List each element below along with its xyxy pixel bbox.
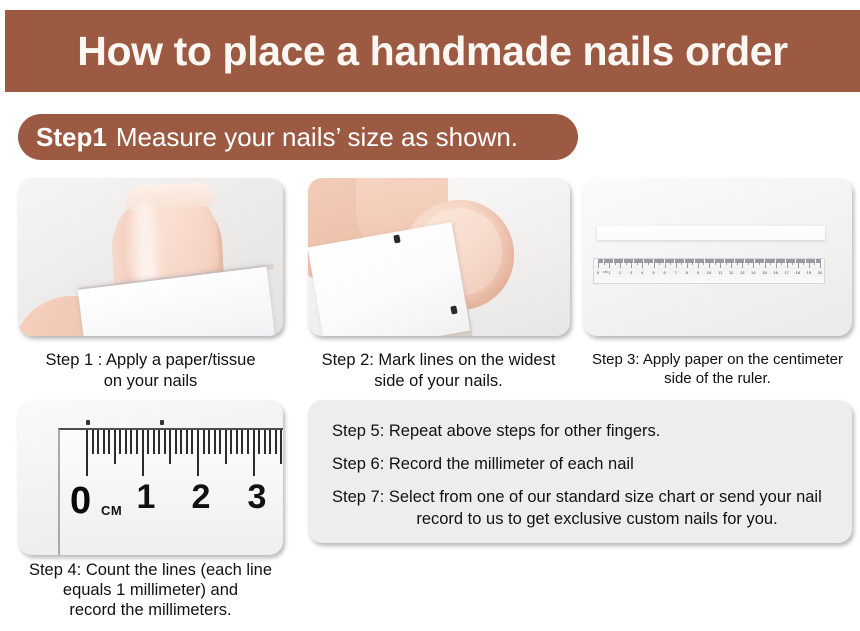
paper-strip bbox=[597, 226, 825, 240]
photo-panel-step4: 0 CM 1 2 3 bbox=[18, 400, 283, 555]
ruler-mm-tick bbox=[208, 430, 210, 454]
ruler-mm-tick bbox=[186, 430, 188, 454]
page-title: How to place a handmade nails order bbox=[77, 28, 788, 75]
ruler-mm-tick bbox=[86, 430, 88, 476]
ruler-number: 17 bbox=[784, 270, 788, 275]
caption-step2: Step 2: Mark lines on the widest side of… bbox=[300, 350, 577, 392]
photo-background bbox=[583, 178, 852, 336]
ruler-20cm: 01234567891011121314151617181920cm bbox=[593, 258, 825, 284]
steps-5-to-7-panel: Step 5: Repeat above steps for other fin… bbox=[308, 400, 852, 543]
ruler-mm-tick bbox=[164, 430, 166, 454]
caption-step1-line1: Step 1 : Apply a paper/tissue bbox=[45, 351, 255, 369]
ruler-mm-tick bbox=[280, 430, 282, 464]
ruler-mm-tick bbox=[203, 430, 205, 454]
step1-label: Step1 bbox=[36, 122, 107, 153]
ruler-mm-tick bbox=[142, 430, 144, 476]
step7-line1: Step 7: Select from one of our standard … bbox=[332, 488, 822, 506]
ruler-zero-label: 0 bbox=[70, 482, 91, 520]
step5-line: Step 5: Repeat above steps for other fin… bbox=[332, 422, 828, 442]
ruler-number: 13 bbox=[740, 270, 744, 275]
ruler-number: 12 bbox=[729, 270, 733, 275]
ruler-number: 6 bbox=[663, 270, 665, 275]
ruler-mm-tick bbox=[214, 430, 216, 454]
ruler-number: 14 bbox=[751, 270, 755, 275]
ruler-mm-tick bbox=[169, 430, 171, 464]
header-band: How to place a handmade nails order bbox=[5, 10, 860, 92]
mark-lines-photo bbox=[308, 178, 570, 336]
ruler-number: 11 bbox=[718, 270, 722, 275]
ruler-mm-tick bbox=[136, 430, 138, 454]
caption-step4-line3: record the millimeters. bbox=[69, 601, 231, 619]
caption-step1-line2: on your nails bbox=[104, 372, 198, 390]
ruler-mm-tick bbox=[191, 430, 193, 454]
ruler-mm-tick bbox=[241, 430, 243, 454]
ruler-number: 2 bbox=[619, 270, 621, 275]
ruler-number: 15 bbox=[762, 270, 766, 275]
ruler-unit-label: cm bbox=[603, 270, 608, 274]
caption-step4-line2: equals 1 millimeter) and bbox=[63, 581, 238, 599]
ruler-number: 4 bbox=[641, 270, 643, 275]
caption-step2-line2: side of your nails. bbox=[374, 372, 502, 390]
ruler-mm-tick bbox=[269, 430, 271, 454]
step6-line: Step 6: Record the millimeter of each na… bbox=[332, 455, 828, 475]
ruler-mm-tick bbox=[103, 430, 105, 454]
ruler-number: 19 bbox=[807, 270, 811, 275]
photo-panel-step3: 01234567891011121314151617181920cm bbox=[583, 178, 852, 336]
ruler-mm-tick bbox=[130, 430, 132, 454]
caption-step3-line2: side of the ruler. bbox=[664, 370, 771, 387]
ruler-mm-tick bbox=[236, 430, 238, 454]
caption-step4: Step 4: Count the lines (each line equal… bbox=[6, 560, 295, 620]
ruler-number: 1 bbox=[608, 270, 610, 275]
ruler-mm-tick bbox=[147, 430, 149, 454]
caption-step2-line1: Step 2: Mark lines on the widest bbox=[322, 351, 556, 369]
ruler-mm-tick bbox=[153, 430, 155, 454]
ruler-number: 9 bbox=[697, 270, 699, 275]
ruler-number-labels: 01234567891011121314151617181920cm bbox=[594, 270, 824, 282]
ruler-mm-tick bbox=[92, 430, 94, 454]
step1-banner: Step1 Measure your nails’ size as shown. bbox=[18, 114, 578, 160]
caption-step3-line1: Step 3: Apply paper on the centimeter bbox=[592, 351, 843, 368]
step7-line: Step 7: Select from one of our standard … bbox=[332, 488, 828, 531]
ruler-mm-tick bbox=[253, 430, 255, 476]
caption-step1: Step 1 : Apply a paper/tissue on your na… bbox=[6, 350, 295, 392]
ruler-mm-tick bbox=[119, 430, 121, 454]
ruler-number: 3 bbox=[630, 270, 632, 275]
ruler-mm-tick bbox=[158, 430, 160, 454]
ruler-digit-3: 3 bbox=[248, 480, 267, 514]
ruler-mm-tick bbox=[175, 430, 177, 454]
ruler-digit-1: 1 bbox=[137, 480, 156, 514]
photo-panel-step2 bbox=[308, 178, 570, 336]
ruler-number: 16 bbox=[773, 270, 777, 275]
ruler-mm-tick bbox=[219, 430, 221, 454]
ruler-number: 18 bbox=[796, 270, 800, 275]
ruler-ticks bbox=[594, 259, 824, 269]
ruler-mm-tick bbox=[125, 430, 127, 454]
ruler-dot-right bbox=[160, 420, 164, 425]
ruler-mm-tick bbox=[197, 430, 199, 476]
ruler-mm-tick bbox=[258, 430, 260, 454]
ruler-number: 5 bbox=[652, 270, 654, 275]
ruler-mm-tick bbox=[225, 430, 227, 464]
ruler-mm-tick bbox=[97, 430, 99, 454]
ruler-number: 7 bbox=[675, 270, 677, 275]
ruler-number: 0 bbox=[597, 270, 599, 275]
ruler-digit-2: 2 bbox=[192, 480, 211, 514]
ruler-cm-label: CM bbox=[101, 503, 122, 518]
paper-on-ruler-photo: 01234567891011121314151617181920cm bbox=[583, 178, 852, 336]
ruler-mm-tick bbox=[264, 430, 266, 454]
caption-step4-line1: Step 4: Count the lines (each line bbox=[29, 561, 272, 579]
ruler-millimeter-ticks bbox=[60, 430, 283, 480]
fingertip-tissue-photo bbox=[18, 178, 283, 336]
ruler-number: 8 bbox=[686, 270, 688, 275]
ruler-mm-tick bbox=[114, 430, 116, 464]
ruler-mm-tick bbox=[247, 430, 249, 454]
ruler-number: 20 bbox=[818, 270, 822, 275]
ruler-mm-tick bbox=[180, 430, 182, 454]
ruler-dot-left bbox=[86, 420, 90, 425]
step1-instruction: Measure your nails’ size as shown. bbox=[116, 122, 518, 153]
ruler-mm-tick bbox=[275, 430, 277, 454]
ruler-mm-tick bbox=[230, 430, 232, 454]
ruler-tick bbox=[820, 259, 821, 268]
ruler-closeup-photo: 0 CM 1 2 3 bbox=[18, 400, 283, 555]
step7-line2: record to us to get exclusive custom nai… bbox=[332, 510, 828, 530]
photo-panel-step1 bbox=[18, 178, 283, 336]
ruler-mm-tick bbox=[108, 430, 110, 454]
caption-step3: Step 3: Apply paper on the centimeter si… bbox=[576, 350, 859, 388]
ruler-number: 10 bbox=[707, 270, 711, 275]
